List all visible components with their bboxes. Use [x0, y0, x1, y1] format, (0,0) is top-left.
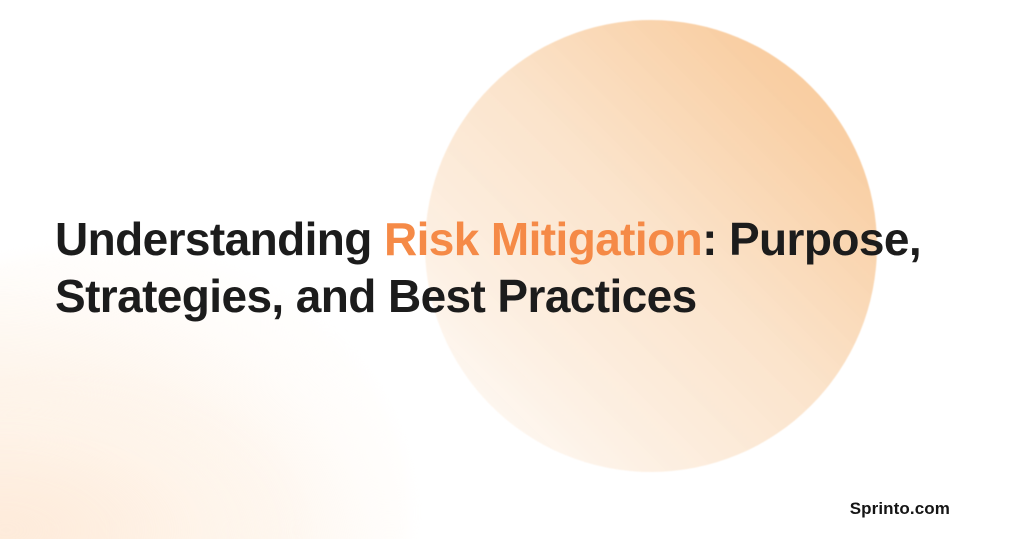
blog-hero-banner: Understanding Risk Mitigation: Purpose, …	[0, 0, 1024, 539]
page-title: Understanding Risk Mitigation: Purpose, …	[55, 211, 965, 325]
page-title-accent-term: Risk Mitigation	[384, 213, 702, 265]
banner-content: Understanding Risk Mitigation: Purpose, …	[0, 0, 1024, 539]
page-title-segment-1: Understanding	[55, 213, 384, 265]
brand-watermark: Sprinto.com	[850, 499, 950, 519]
